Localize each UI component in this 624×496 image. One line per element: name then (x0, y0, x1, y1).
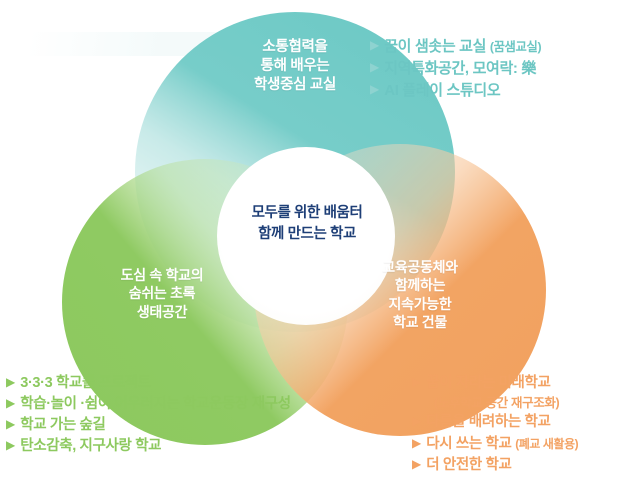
bullet-item-label: 학교 가는 숲길 (20, 415, 105, 436)
bullet-item-note: (폐교 새활용) (515, 437, 578, 451)
triangle-right-icon: ▶ (412, 434, 421, 452)
bullet-item-label: 더 안전한 학교 (426, 455, 511, 476)
triangle-right-icon: ▶ (6, 436, 15, 454)
triangle-right-icon: ▶ (412, 373, 421, 391)
bullet-list-orange: ▶꿈이 자라는 미래학교(노후학교 공간 재구조화)▶다름을 배려하는 학교▶다… (412, 373, 578, 476)
triangle-right-icon: ▶ (412, 412, 421, 430)
triangle-right-icon: ▶ (370, 36, 379, 54)
bullet-item-label: AI 플레이 스튜디오 (384, 80, 500, 102)
triangle-right-icon: ▶ (412, 455, 421, 473)
bullet-item-orange-3: ▶다시 쓰는 학교 (폐교 새활용) (412, 434, 578, 455)
bullet-item-orange-2: ▶다름을 배려하는 학교 (412, 412, 578, 433)
bullet-item-orange-4: ▶더 안전한 학교 (412, 455, 578, 476)
bullet-item-label: 학습·놀이 ·쉼이 어우러지는 학교운동장 재구성 (20, 394, 290, 415)
bullet-list-teal: ▶꿈이 샘솟는 교실 (꿈샘교실)▶지역특화공간, 모여락: 樂▶AI 플레이 … (370, 36, 541, 102)
bullet-item-teal-2: ▶지역특화공간, 모여락: 樂 (370, 58, 541, 80)
bullet-item-green-3: ▶학교 가는 숲길 (6, 415, 291, 436)
bullet-item-label: 다름을 배려하는 학교 (426, 412, 550, 433)
triangle-right-icon: ▶ (6, 394, 15, 412)
bullet-item-green-4: ▶탄소감축, 지구사랑 학교 (6, 436, 291, 457)
triangle-right-icon: ▶ (370, 80, 379, 98)
bullet-item-teal-1: ▶꿈이 샘솟는 교실 (꿈샘교실) (370, 36, 541, 58)
diagram-canvas: 소통협력을 통해 배우는 학생중심 교실 도심 속 학교의 숨쉬는 초록 생태공… (0, 0, 624, 496)
triangle-right-icon: ▶ (370, 58, 379, 76)
bullet-item-label: 지역특화공간, 모여락: 樂 (384, 58, 536, 80)
bullet-item-note: (꿈샘교실) (490, 40, 541, 54)
bullet-item-green-1: ▶3·3·3 학교뜰 프로젝트 (6, 373, 291, 394)
bullet-item-orange-1-subline: (노후학교 공간 재구조화) (412, 394, 578, 412)
bullet-item-teal-3: ▶AI 플레이 스튜디오 (370, 80, 541, 102)
bullet-item-label: 꿈이 샘솟는 교실 (꿈샘교실) (384, 36, 541, 58)
bullet-item-label: 다시 쓰는 학교 (폐교 새활용) (426, 434, 578, 455)
bullet-item-label: 3·3·3 학교뜰 프로젝트 (20, 373, 150, 394)
bullet-item-orange-1: ▶꿈이 자라는 미래학교 (412, 373, 578, 394)
bullet-item-green-2: ▶학습·놀이 ·쉼이 어우러지는 학교운동장 재구성 (6, 394, 291, 415)
bullet-item-label: 탄소감축, 지구사랑 학교 (20, 436, 161, 457)
bullet-list-green: ▶3·3·3 학교뜰 프로젝트▶학습·놀이 ·쉼이 어우러지는 학교운동장 재구… (6, 373, 291, 458)
triangle-right-icon: ▶ (6, 415, 15, 433)
triangle-right-icon: ▶ (6, 373, 15, 391)
center-disc (217, 147, 395, 325)
bullet-item-label: 꿈이 자라는 미래학교 (426, 373, 550, 394)
